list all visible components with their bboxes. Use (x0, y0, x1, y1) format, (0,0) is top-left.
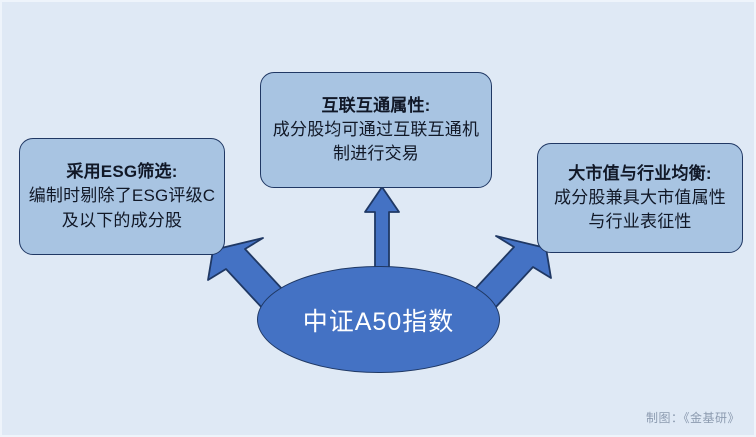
callout-esg-body: 编制时剔除了ESG评级C及以下的成分股 (28, 184, 216, 232)
callout-large-cap-balance[interactable]: 大市值与行业均衡: 成分股兼具大市值属性与行业表征性 (537, 143, 743, 253)
callout-esg-screening[interactable]: 采用ESG筛选: 编制时剔除了ESG评级C及以下的成分股 (19, 138, 225, 255)
callout-connect-heading: 互联互通属性: (321, 94, 430, 118)
callout-stock-connect[interactable]: 互联互通属性: 成分股均可通过互联互通机制进行交易 (260, 72, 492, 188)
credit-text: 制图：《金基研》 (646, 409, 740, 426)
diagram-canvas: 采用ESG筛选: 编制时剔除了ESG评级C及以下的成分股 互联互通属性: 成分股… (0, 0, 756, 437)
center-node-index[interactable]: 中证A50指数 (257, 266, 500, 373)
block-arrow-icon-up (365, 187, 399, 272)
callout-cap-heading: 大市值与行业均衡: (568, 162, 711, 186)
callout-connect-body: 成分股均可通过互联互通机制进行交易 (269, 118, 483, 166)
callout-cap-body: 成分股兼具大市值属性与行业表征性 (546, 186, 734, 234)
callout-esg-heading: 采用ESG筛选: (66, 160, 177, 184)
center-node-label: 中证A50指数 (303, 302, 454, 338)
